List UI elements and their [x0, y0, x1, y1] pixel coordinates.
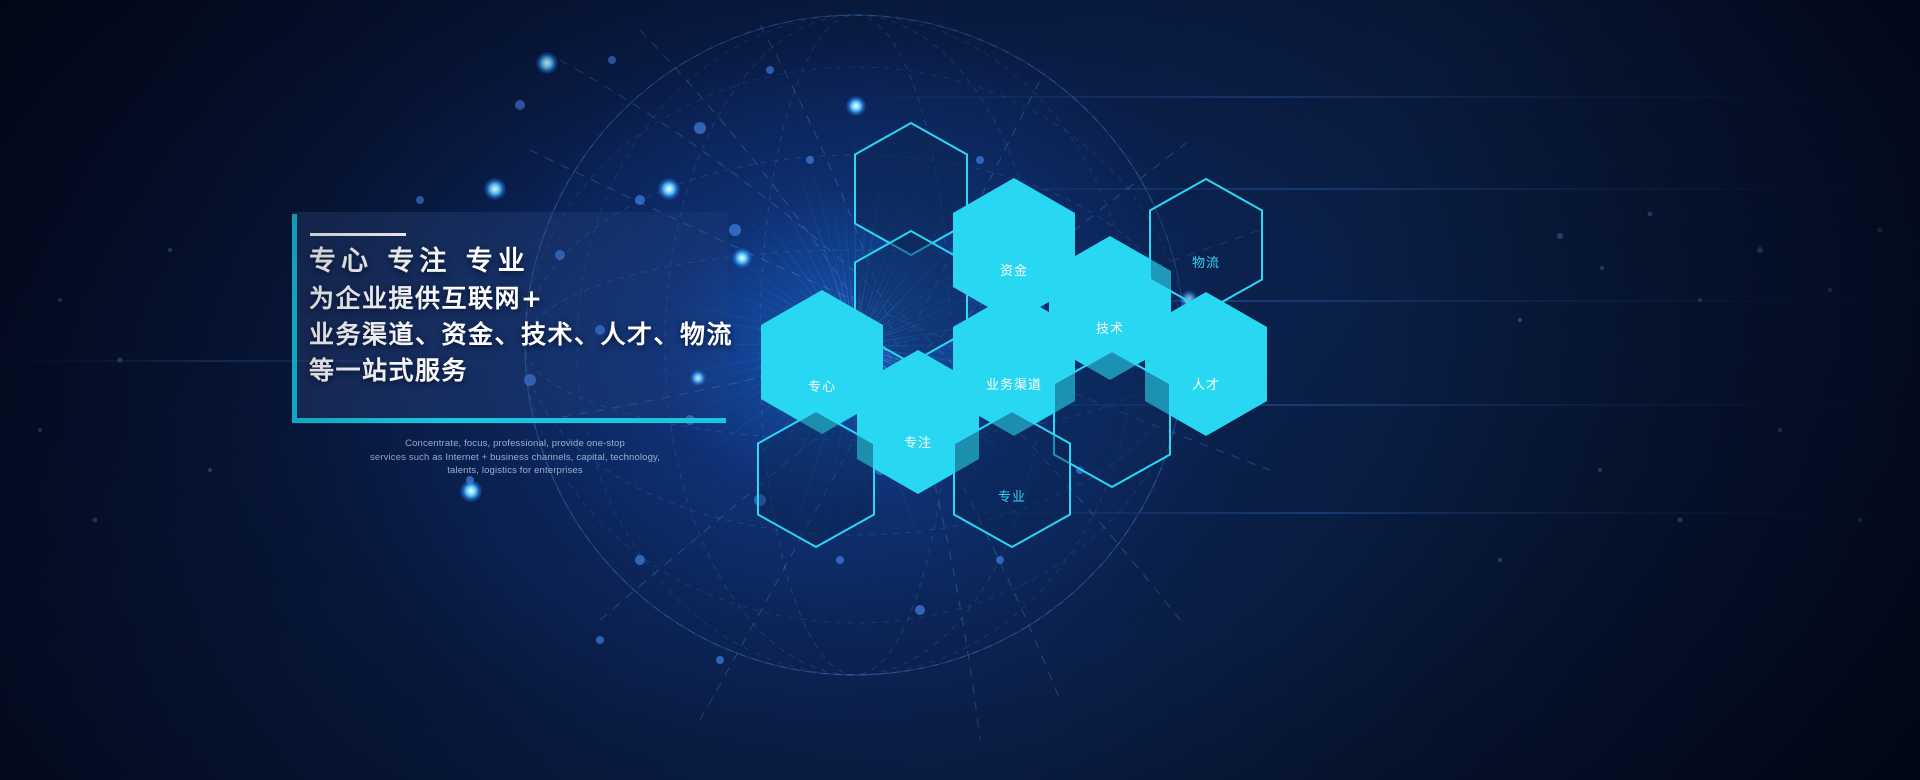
vignette-overlay — [0, 0, 1920, 780]
banner-stage: 专心 专注 专业 为企业提供互联网+ 业务渠道、资金、技术、人才、物流 等一站式… — [0, 0, 1920, 780]
